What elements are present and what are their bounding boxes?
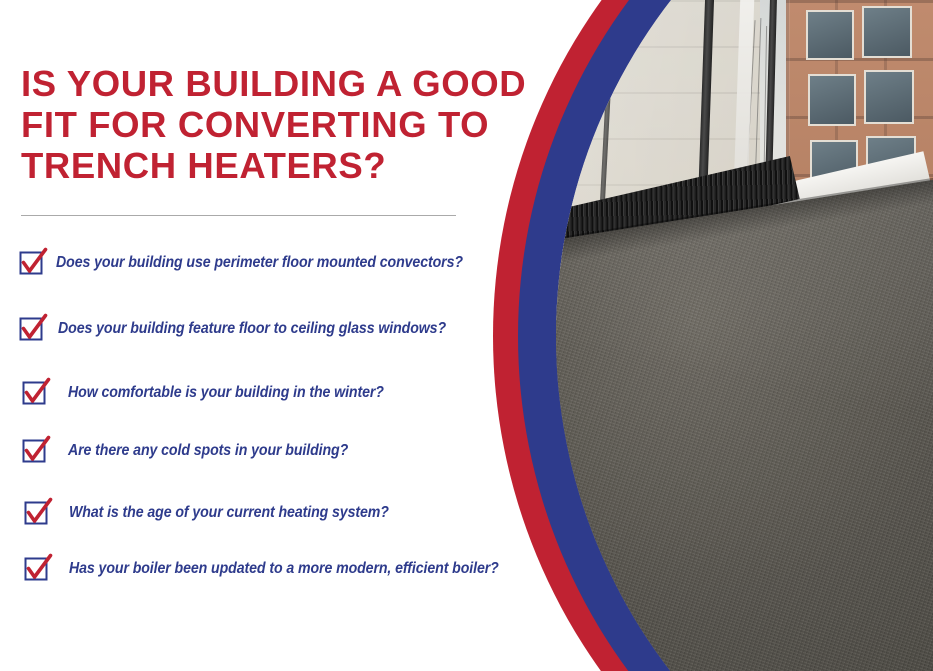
list-item-label: Are there any cold spots in your buildin…	[68, 442, 348, 459]
checked-box-icon[interactable]	[18, 313, 48, 343]
headline-line-2: FIT FOR CONVERTING TO	[21, 104, 521, 145]
checked-box-icon[interactable]	[23, 497, 53, 527]
list-item[interactable]: Are there any cold spots in your buildin…	[21, 433, 373, 467]
list-item[interactable]: Has your boiler been updated to a more m…	[23, 551, 536, 585]
list-item-label: How comfortable is your building in the …	[68, 384, 384, 401]
poster-canvas: IS YOUR BUILDING A GOOD FIT FOR CONVERTI…	[0, 0, 933, 671]
photo-brick-window	[862, 6, 912, 58]
headline-line-1: IS YOUR BUILDING A GOOD	[21, 63, 521, 104]
page-title: IS YOUR BUILDING A GOOD FIT FOR CONVERTI…	[21, 63, 521, 186]
checked-box-icon[interactable]	[21, 435, 51, 465]
checked-box-icon[interactable]	[18, 247, 48, 277]
checked-box-icon[interactable]	[21, 377, 51, 407]
list-item[interactable]: Does your building use perimeter floor m…	[18, 245, 498, 279]
content-column: IS YOUR BUILDING A GOOD FIT FOR CONVERTI…	[0, 0, 520, 671]
checked-box-icon[interactable]	[23, 553, 53, 583]
list-item-label: Does your building use perimeter floor m…	[56, 254, 463, 271]
divider-rule	[21, 215, 456, 216]
trench-heater-window-photo	[556, 0, 933, 671]
list-item-label: Does your building feature floor to ceil…	[58, 320, 446, 337]
photo-brick-window	[864, 70, 914, 124]
headline-line-3: TRENCH HEATERS?	[21, 145, 521, 186]
photo-brick-window	[806, 10, 854, 60]
list-item[interactable]: Does your building feature floor to ceil…	[18, 311, 480, 345]
list-item[interactable]: What is the age of your current heating …	[23, 495, 417, 529]
photo-brick-window	[808, 74, 856, 126]
list-item-label: What is the age of your current heating …	[69, 504, 389, 521]
list-item[interactable]: How comfortable is your building in the …	[21, 375, 411, 409]
list-item-label: Has your boiler been updated to a more m…	[69, 560, 499, 577]
